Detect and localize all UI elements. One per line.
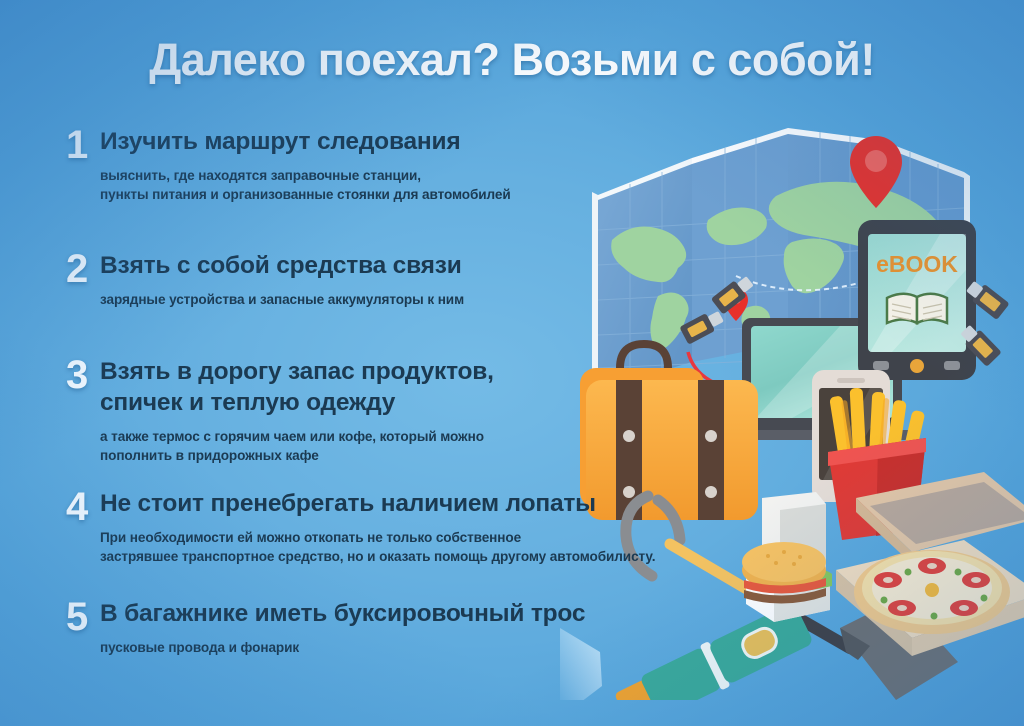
list-item-heading: Взять в дорогу запас продуктов, (100, 356, 494, 387)
list-item-number: 1 (66, 126, 100, 164)
list-item-subtext: выяснить, где находятся заправочные стан… (100, 166, 511, 204)
list-item-heading: Не стоит пренебрегать наличием лопаты (100, 488, 655, 519)
list-item-subtext: пусковые провода и фонарик (100, 638, 585, 657)
list-item-number: 5 (66, 598, 100, 636)
list-item-heading: Взять с собой средства связи (100, 250, 464, 281)
page-title: Далеко поехал? Возьми с собой! (0, 34, 1024, 86)
list-item: 3 Взять в дорогу запас продуктов, спичек… (66, 356, 494, 465)
list-item-heading: В багажнике иметь буксировочный трос (100, 598, 585, 629)
ebook-label: eBOOK (876, 251, 958, 277)
list-item-number: 2 (66, 250, 100, 288)
infographic-poster: eBOOK (0, 0, 1024, 726)
travel-illustration: eBOOK (540, 100, 1024, 700)
list-item-subtext: зарядные устройства и запасные аккумулят… (100, 290, 464, 309)
subtext-line: застрявшее транспортное средство, но и о… (100, 547, 655, 566)
list-item: 5 В багажнике иметь буксировочный трос п… (66, 598, 585, 657)
list-item: 1 Изучить маршрут следования выяснить, г… (66, 126, 511, 204)
list-item-heading: Изучить маршрут следования (100, 126, 511, 157)
subtext-line: выяснить, где находятся заправочные стан… (100, 166, 511, 185)
subtext-line: зарядные устройства и запасные аккумулят… (100, 290, 464, 309)
list-item-heading-line-2: спичек и теплую одежду (100, 387, 494, 418)
list-item-number: 4 (66, 488, 100, 526)
subtext-line: а также термос с горячим чаем или кофе, … (100, 427, 494, 446)
list-item: 4 Не стоит пренебрегать наличием лопаты … (66, 488, 655, 566)
subtext-line: пополнить в придорожных кафе (100, 446, 494, 465)
list-item-subtext: а также термос с горячим чаем или кофе, … (100, 427, 494, 465)
list-item-number: 3 (66, 356, 100, 394)
ebook-tablet-icon: eBOOK (858, 220, 976, 380)
subtext-line: пусковые провода и фонарик (100, 638, 585, 657)
list-item: 2 Взять с собой средства связи зарядные … (66, 250, 464, 309)
subtext-line: пункты питания и организованные стоянки … (100, 185, 511, 204)
subtext-line: При необходимости ей можно откопать не т… (100, 528, 655, 547)
list-item-subtext: При необходимости ей можно откопать не т… (100, 528, 655, 566)
